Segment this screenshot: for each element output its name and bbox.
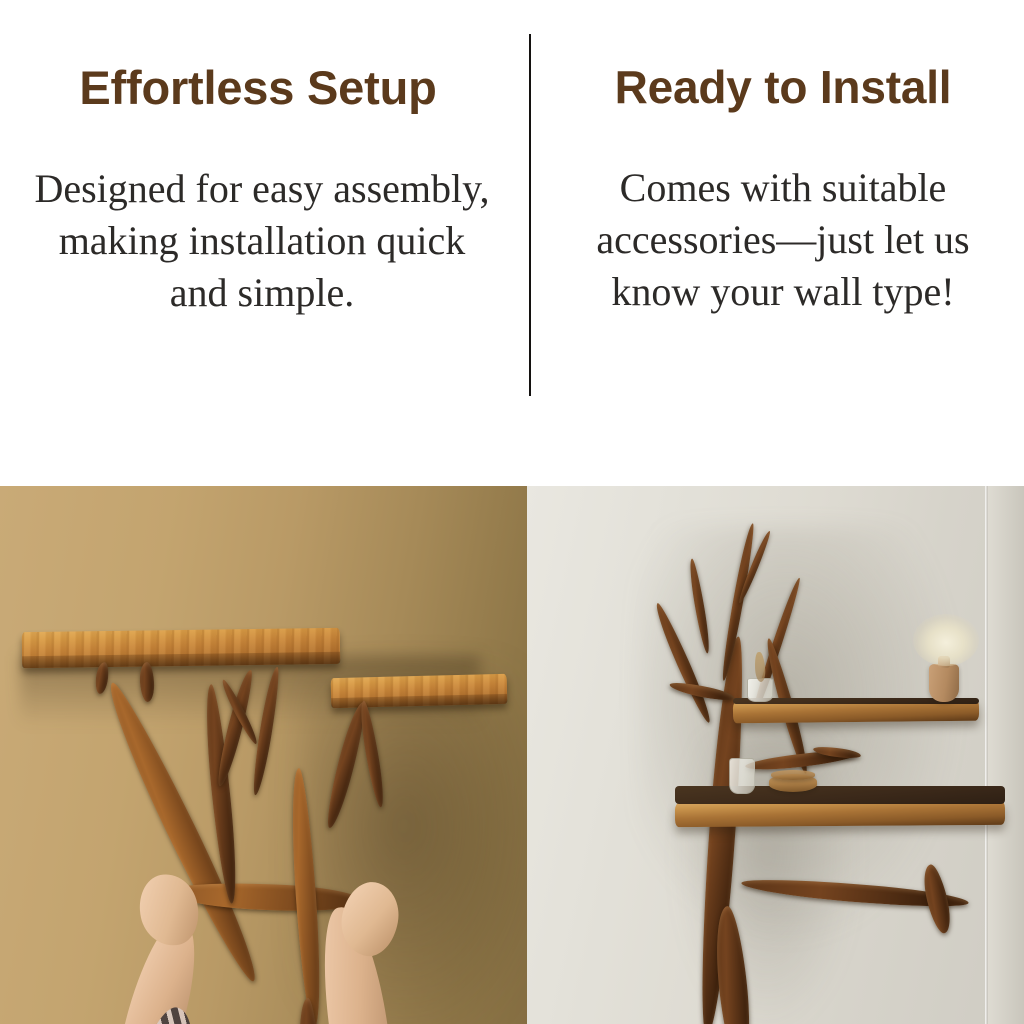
- feature-column-ready-to-install: Ready to Install Comes with suitable acc…: [538, 0, 1024, 486]
- white-twig-spray: [913, 614, 979, 666]
- lower-shelf-top-surface: [675, 786, 1005, 804]
- feature-photo-band: Ma: [0, 486, 1024, 1024]
- headline-effortless-setup: Effortless Setup: [10, 0, 506, 111]
- body-ready-to-install: Comes with suitable accessories—just let…: [548, 110, 1018, 318]
- headline-ready-to-install: Ready to Install: [548, 0, 1018, 110]
- tan-vase: [929, 664, 959, 702]
- glass-jar: [729, 758, 755, 794]
- upper-shelf-plank: [22, 628, 340, 668]
- feature-column-effortless-setup: Effortless Setup Designed for easy assem…: [0, 0, 520, 486]
- wall-right-face: [988, 486, 1024, 1024]
- photo-styled-shelf: [527, 486, 1024, 1024]
- column-divider: [529, 34, 531, 396]
- right-shelf-plank: [331, 674, 508, 708]
- photo-installing-shelf: Ma: [0, 486, 527, 1024]
- product-feature-panel: Effortless Setup Designed for easy assem…: [0, 0, 1024, 1024]
- wooden-bowl-rim: [771, 770, 815, 780]
- lower-shelf-plank: [675, 801, 1005, 827]
- body-effortless-setup: Designed for easy assembly, making insta…: [10, 111, 506, 319]
- feature-text-band: Effortless Setup Designed for easy assem…: [0, 0, 1024, 486]
